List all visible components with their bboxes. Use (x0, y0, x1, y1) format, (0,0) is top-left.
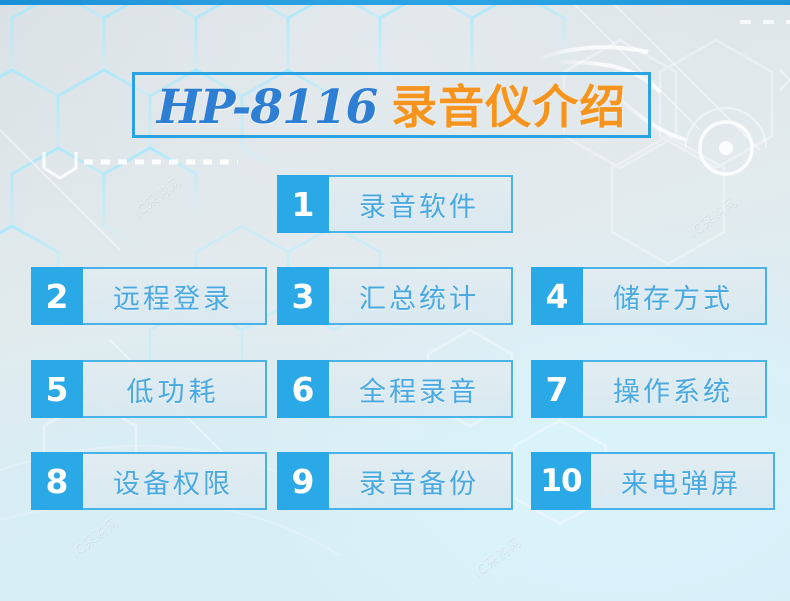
feature-number: 8 (31, 452, 83, 510)
feature-number: 2 (31, 267, 83, 325)
feature-label: 设备权限 (83, 452, 267, 510)
feature-number: 6 (277, 360, 329, 418)
slide-background: IC采购网 IC采购网 IC采购网 IC采购网 HP-8116 录音仪介绍 1 … (0, 0, 790, 601)
feature-number: 1 (277, 175, 329, 233)
feature-label: 操作系统 (583, 360, 767, 418)
feature-number: 5 (31, 360, 83, 418)
feature-label: 录音备份 (329, 452, 513, 510)
feature-label: 来电弹屏 (591, 452, 775, 510)
feature-number: 3 (277, 267, 329, 325)
feature-item-1[interactable]: 1 录音软件 (277, 175, 513, 233)
feature-label: 低功耗 (83, 360, 267, 418)
feature-label: 储存方式 (583, 267, 767, 325)
feature-item-9[interactable]: 9 录音备份 (277, 452, 513, 510)
feature-label: 录音软件 (329, 175, 513, 233)
feature-number: 10 (531, 452, 591, 510)
feature-label: 汇总统计 (329, 267, 513, 325)
feature-item-10[interactable]: 10 来电弹屏 (531, 452, 775, 510)
feature-item-3[interactable]: 3 汇总统计 (277, 267, 513, 325)
feature-item-7[interactable]: 7 操作系统 (531, 360, 767, 418)
feature-item-5[interactable]: 5 低功耗 (31, 360, 267, 418)
feature-item-8[interactable]: 8 设备权限 (31, 452, 267, 510)
feature-number: 4 (531, 267, 583, 325)
feature-number: 9 (277, 452, 329, 510)
feature-list: 1 录音软件 2 远程登录 3 汇总统计 4 储存方式 5 低功耗 6 全程录音… (0, 0, 790, 601)
feature-number: 7 (531, 360, 583, 418)
feature-item-4[interactable]: 4 储存方式 (531, 267, 767, 325)
feature-item-2[interactable]: 2 远程登录 (31, 267, 267, 325)
feature-label: 全程录音 (329, 360, 513, 418)
feature-label: 远程登录 (83, 267, 267, 325)
feature-item-6[interactable]: 6 全程录音 (277, 360, 513, 418)
